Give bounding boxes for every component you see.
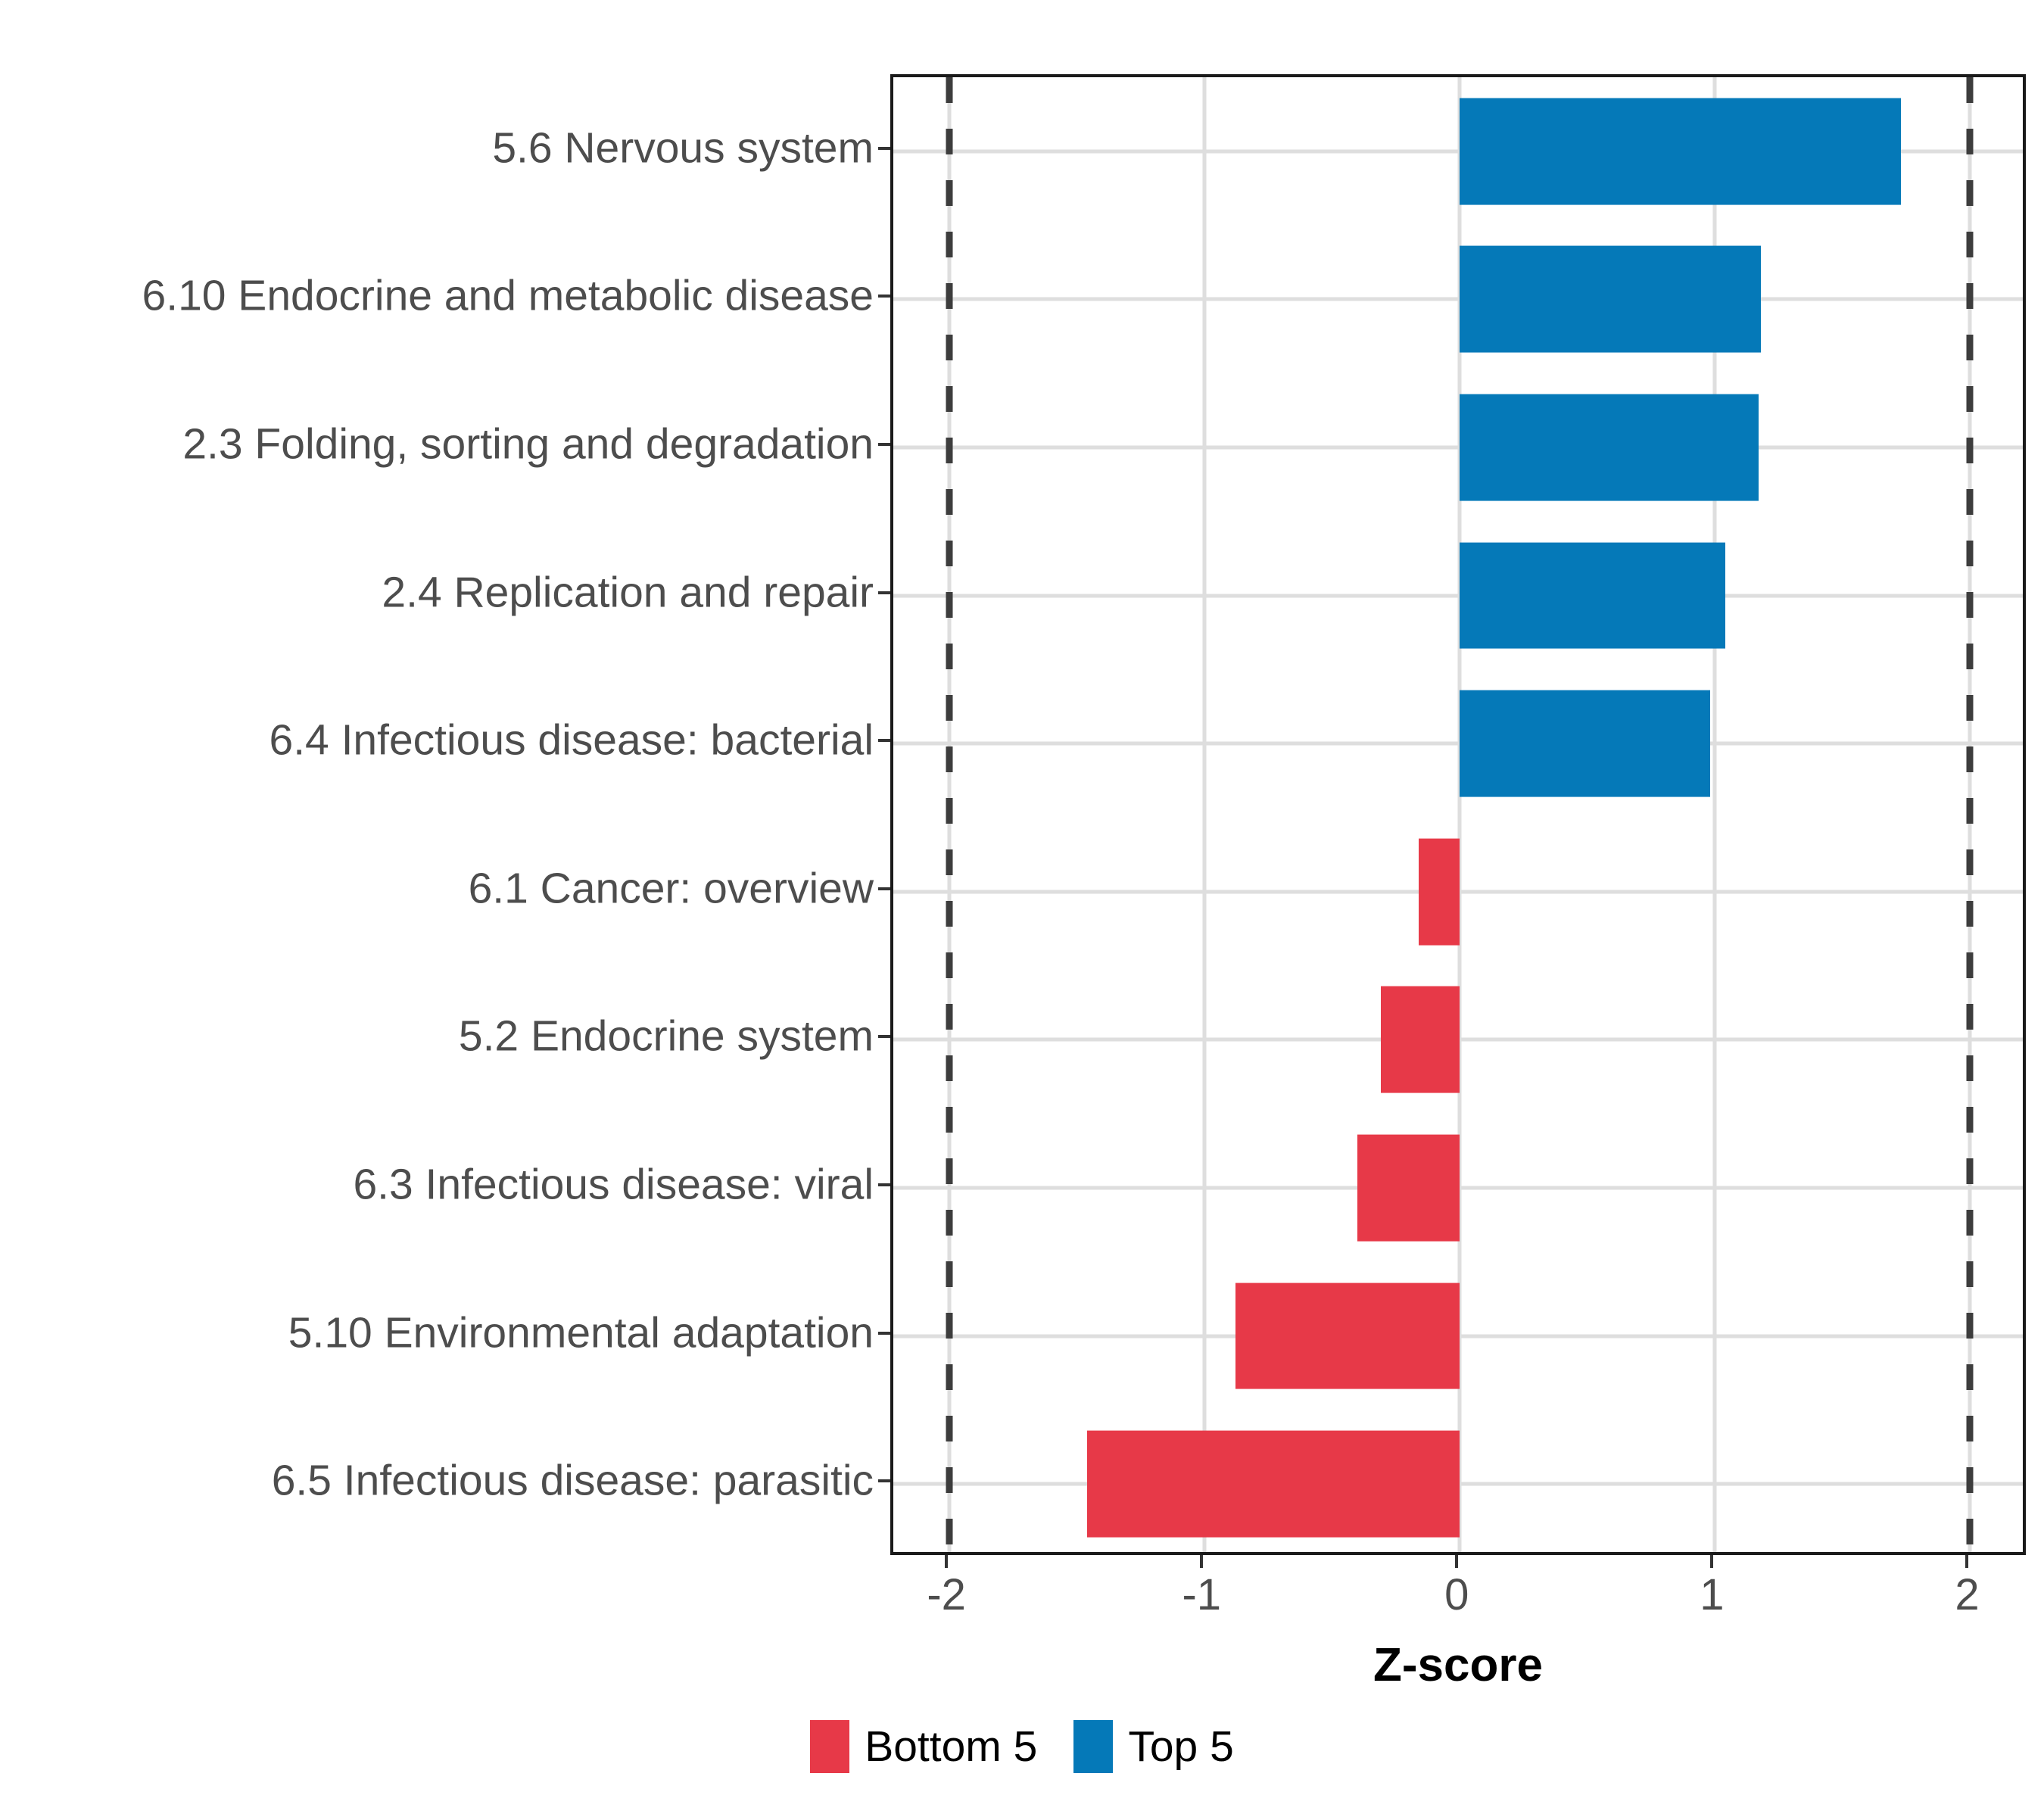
x-axis: -2-1012 <box>890 1555 2026 1646</box>
bar <box>1381 986 1460 1093</box>
x-axis-tick-label: 2 <box>1955 1573 1979 1617</box>
x-axis-tick-mark <box>1200 1555 1203 1568</box>
bar <box>1357 1135 1460 1242</box>
reference-line <box>1967 77 1974 1552</box>
plot-panel <box>890 74 2026 1555</box>
y-axis-tick-mark <box>878 1183 890 1186</box>
x-axis-tick-label: -1 <box>1182 1573 1221 1617</box>
plot-area <box>893 77 2023 1552</box>
bar-chart: 5.6 Nervous system6.10 Endocrine and met… <box>0 0 2044 1817</box>
x-axis-title: Z-score <box>890 1638 2026 1692</box>
x-axis-tick-label: 0 <box>1444 1573 1469 1617</box>
bar <box>1460 394 1758 501</box>
y-axis-tick-mark <box>878 1332 890 1335</box>
bar <box>1419 838 1460 945</box>
y-axis-labels: 5.6 Nervous system6.10 Endocrine and met… <box>0 74 890 1555</box>
y-axis-tick-mark <box>878 1479 890 1482</box>
y-axis-tick-label: 5.10 Environmental adaptation <box>288 1311 874 1354</box>
y-axis-tick-mark <box>878 147 890 150</box>
x-axis-tick-label: 1 <box>1700 1573 1724 1617</box>
y-axis-tick-label: 6.10 Endocrine and metabolic disease <box>142 275 874 318</box>
x-axis-tick-mark <box>1710 1555 1713 1568</box>
bar <box>1087 1431 1460 1538</box>
legend-label: Top 5 <box>1128 1725 1233 1769</box>
y-axis-tick-mark <box>878 887 890 890</box>
y-axis-tick-mark <box>878 295 890 298</box>
y-axis-tick-label: 2.3 Folding, sorting and degradation <box>182 423 874 466</box>
y-axis-tick-label: 6.4 Infectious disease: bacterial <box>270 719 874 762</box>
y-axis-tick-mark <box>878 443 890 446</box>
bar <box>1460 246 1761 353</box>
y-axis-tick-label: 6.1 Cancer: overview <box>469 867 874 910</box>
x-axis-tick-mark <box>945 1555 948 1568</box>
x-axis-tick-mark <box>1965 1555 1968 1568</box>
reference-line <box>946 77 953 1552</box>
bar <box>1460 542 1725 649</box>
bar <box>1235 1282 1460 1389</box>
legend-item[interactable]: Bottom 5 <box>810 1720 1037 1773</box>
x-axis-tick-label: -2 <box>927 1573 966 1617</box>
bar <box>1460 690 1709 797</box>
legend-label: Bottom 5 <box>865 1725 1037 1769</box>
y-axis-tick-label: 5.6 Nervous system <box>492 126 874 170</box>
y-axis-tick-mark <box>878 739 890 742</box>
legend-swatch-icon <box>1073 1720 1113 1773</box>
bar <box>1460 98 1901 204</box>
y-axis-tick-mark <box>878 1035 890 1038</box>
y-axis-tick-label: 2.4 Replication and repair <box>382 571 874 614</box>
legend-item[interactable]: Top 5 <box>1073 1720 1233 1773</box>
y-axis-tick-label: 6.3 Infectious disease: viral <box>353 1164 874 1207</box>
x-axis-tick-mark <box>1455 1555 1458 1568</box>
chart-legend: Bottom 5Top 5 <box>0 1720 2044 1773</box>
vertical-gridline <box>1203 77 1207 1552</box>
y-axis-tick-label: 6.5 Infectious disease: parasitic <box>272 1460 874 1503</box>
legend-swatch-icon <box>810 1720 849 1773</box>
y-axis-tick-mark <box>878 591 890 594</box>
y-axis-tick-label: 5.2 Endocrine system <box>459 1015 874 1058</box>
